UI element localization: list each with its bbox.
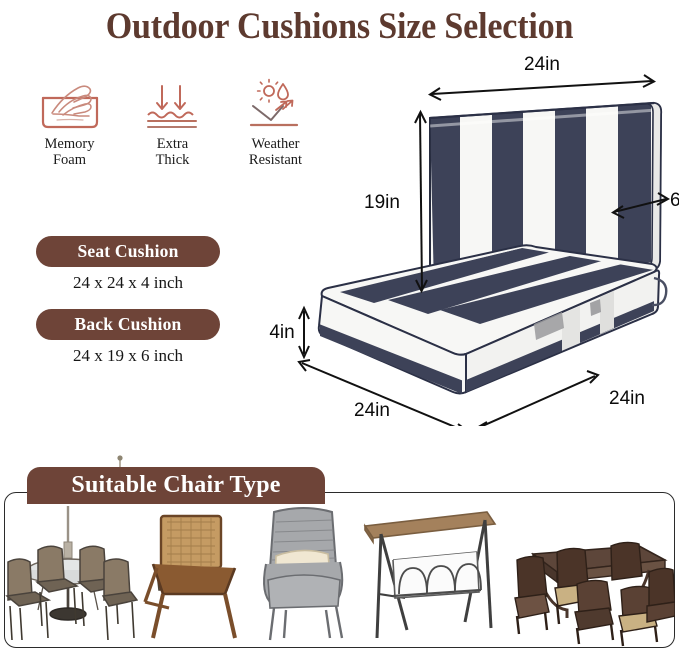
- cushion-product-illustration: 24in 19in 6in 4in 24in: [262, 56, 679, 426]
- seat-cushion-dimensions: 24 x 24 x 4 inch: [36, 273, 220, 293]
- chair-item-porch-swing-with-canopy: [359, 492, 499, 648]
- dimension-back-height-label: 19in: [364, 192, 400, 213]
- dimension-seat-height-label: 4in: [269, 322, 294, 343]
- seat-cushion-graphic: [319, 245, 666, 398]
- memory-foam-icon: [33, 78, 107, 132]
- page-title: Outdoor Cushions Size Selection: [27, 0, 652, 52]
- seat-cushion-badge: Seat Cushion: [36, 236, 220, 267]
- feature-label-line1: Extra: [157, 136, 188, 152]
- feature-label-line2: Foam: [53, 152, 86, 168]
- dimension-seat-width-label: 24in: [354, 400, 390, 421]
- back-cushion-badge: Back Cushion: [36, 309, 220, 340]
- chair-item-brown-wicker-dining-set: [499, 492, 675, 648]
- dimension-back-width-label: 24in: [524, 56, 560, 75]
- dimension-seat-depth-label: 24in: [609, 388, 645, 409]
- feature-extra-thick: Extra Thick: [121, 78, 224, 183]
- feature-memory-foam: Memory Foam: [18, 78, 121, 183]
- feature-label: Extra Thick: [156, 136, 190, 168]
- cushion-spec-list: Seat Cushion 24 x 24 x 4 inch Back Cushi…: [36, 236, 236, 382]
- dimension-back-height: [415, 112, 427, 291]
- dimension-back-thickness-label: 6in: [670, 190, 679, 211]
- suitable-chair-type-banner: Suitable Chair Type: [27, 467, 325, 504]
- chair-item-wooden-cane-lounge-chair: [138, 492, 249, 648]
- extra-thick-icon: [136, 78, 210, 132]
- back-cushion-dimensions: 24 x 19 x 6 inch: [36, 346, 220, 366]
- chair-item-patio-dining-set-with-umbrella: [4, 492, 138, 648]
- chair-type-list: [4, 492, 675, 648]
- dimension-back-width: [430, 75, 654, 100]
- feature-label: Memory Foam: [45, 136, 95, 168]
- feature-label-line1: Memory: [45, 136, 95, 152]
- dimension-seat-height: [299, 308, 309, 357]
- feature-label-line2: Thick: [156, 152, 190, 168]
- chair-item-grey-wicker-armchair: [249, 492, 360, 648]
